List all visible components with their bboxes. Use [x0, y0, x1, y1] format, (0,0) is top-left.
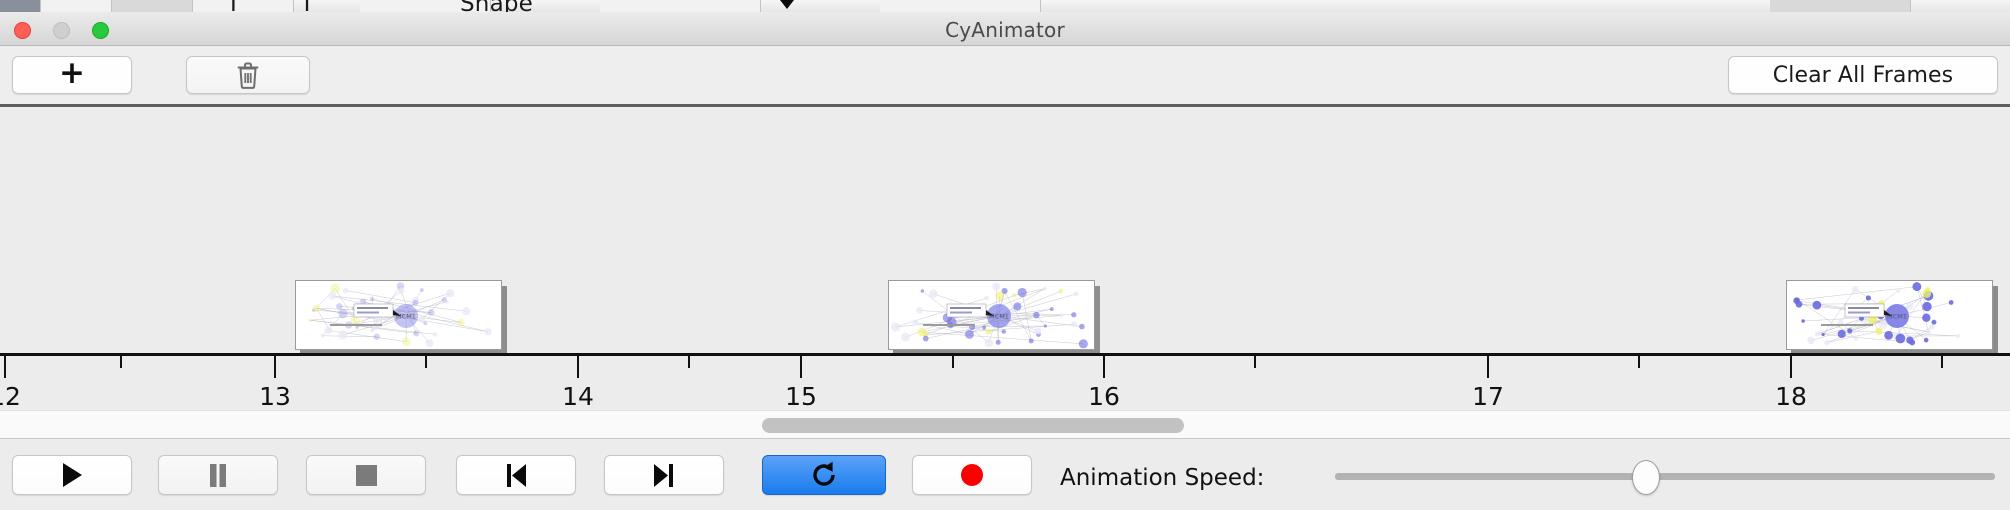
- record-button[interactable]: [912, 455, 1032, 495]
- loop-button[interactable]: [762, 455, 886, 495]
- cyanimator-window: I T Shape CyAnimator + Clear All Fram: [0, 0, 2010, 510]
- axis-tick: [425, 356, 427, 368]
- timeline-frame[interactable]: MCM1: [1786, 280, 1998, 354]
- axis-tick-label: 13: [259, 382, 291, 410]
- axis-tick: [120, 356, 122, 368]
- animation-speed-slider[interactable]: [1335, 473, 1995, 480]
- background-window-strip: I T Shape: [0, 0, 2010, 12]
- axis-tick: [1941, 356, 1943, 368]
- background-window-label: Shape: [460, 0, 533, 12]
- pause-button[interactable]: [158, 455, 278, 495]
- bg-chunk: [193, 0, 294, 12]
- window-title: CyAnimator: [0, 18, 2010, 42]
- trash-icon: [236, 62, 260, 89]
- bg-chunk: [112, 0, 193, 12]
- clear-all-frames-label: Clear All Frames: [1773, 63, 1953, 88]
- slider-thumb[interactable]: [1632, 460, 1660, 495]
- slider-track[interactable]: [1335, 473, 1995, 480]
- bg-arrow-icon: [780, 0, 794, 9]
- axis-tick: [952, 356, 954, 368]
- animation-speed-label: Animation Speed:: [1060, 465, 1264, 491]
- axis-tick: [1790, 356, 1792, 378]
- axis-tick-label: 15: [785, 382, 817, 410]
- add-frame-button[interactable]: +: [12, 56, 132, 94]
- axis-tick: [577, 356, 579, 378]
- record-icon: [960, 463, 984, 487]
- bg-chunk: [600, 0, 761, 12]
- axis-tick: [4, 356, 6, 378]
- network-thumbnail-graphic: MCM1: [889, 281, 1094, 349]
- stop-button[interactable]: [306, 455, 426, 495]
- playback-bar: Animation Speed:: [0, 440, 2010, 510]
- stop-icon: [355, 464, 378, 487]
- bg-chunk: [41, 0, 112, 12]
- skip-to-first-button[interactable]: [456, 455, 576, 495]
- bg-chunk: [1770, 0, 1911, 12]
- play-icon: [61, 462, 83, 488]
- frame-thumbnail[interactable]: MCM1: [295, 280, 502, 350]
- svg-text:MCM1: MCM1: [989, 313, 1009, 321]
- timeline-axis-line: [0, 353, 2010, 356]
- timeline-frame[interactable]: MCM1: [888, 280, 1100, 354]
- timeline-panel[interactable]: MCM1MCM1MCM1 12131415161718 Seconds: [0, 107, 2010, 410]
- title-bar: CyAnimator: [0, 12, 2010, 46]
- clear-all-frames-button[interactable]: Clear All Frames: [1728, 56, 1998, 94]
- bg-chunk: [0, 0, 41, 12]
- skip-to-last-button[interactable]: [604, 455, 724, 495]
- axis-tick: [688, 356, 690, 368]
- axis-tick-label: 12: [0, 382, 21, 410]
- bg-glyph: T: [300, 0, 314, 12]
- axis-tick: [800, 356, 802, 378]
- axis-tick: [1254, 356, 1256, 368]
- svg-text:MCM1: MCM1: [396, 313, 416, 321]
- axis-tick-label: 17: [1472, 382, 1504, 410]
- loop-icon: [810, 461, 838, 489]
- play-button[interactable]: [12, 455, 132, 495]
- axis-tick-label: 14: [562, 382, 594, 410]
- frame-thumbnail[interactable]: MCM1: [888, 280, 1095, 350]
- plus-icon: +: [59, 58, 85, 89]
- timeline-scrollbar[interactable]: [0, 410, 2010, 439]
- skip-forward-icon: [653, 463, 675, 488]
- axis-tick: [1103, 356, 1105, 378]
- network-thumbnail-graphic: MCM1: [1787, 281, 1992, 349]
- svg-text:MCM1: MCM1: [1887, 313, 1907, 321]
- pause-icon: [207, 463, 229, 488]
- network-thumbnail-graphic: MCM1: [296, 281, 501, 349]
- bg-chunk: [880, 0, 1041, 12]
- timeline-frame[interactable]: MCM1: [295, 280, 507, 354]
- toolbar: + Clear All Frames: [0, 46, 2010, 107]
- skip-back-icon: [505, 463, 527, 488]
- bg-glyph: I: [230, 0, 237, 12]
- axis-tick: [1487, 356, 1489, 378]
- axis-tick: [274, 356, 276, 378]
- delete-frame-button[interactable]: [186, 56, 310, 94]
- axis-tick: [1638, 356, 1640, 368]
- frame-thumbnail[interactable]: MCM1: [1786, 280, 1993, 350]
- scrollbar-thumb[interactable]: [762, 418, 1184, 433]
- axis-tick-label: 18: [1775, 382, 1807, 410]
- axis-tick-label: 16: [1088, 382, 1120, 410]
